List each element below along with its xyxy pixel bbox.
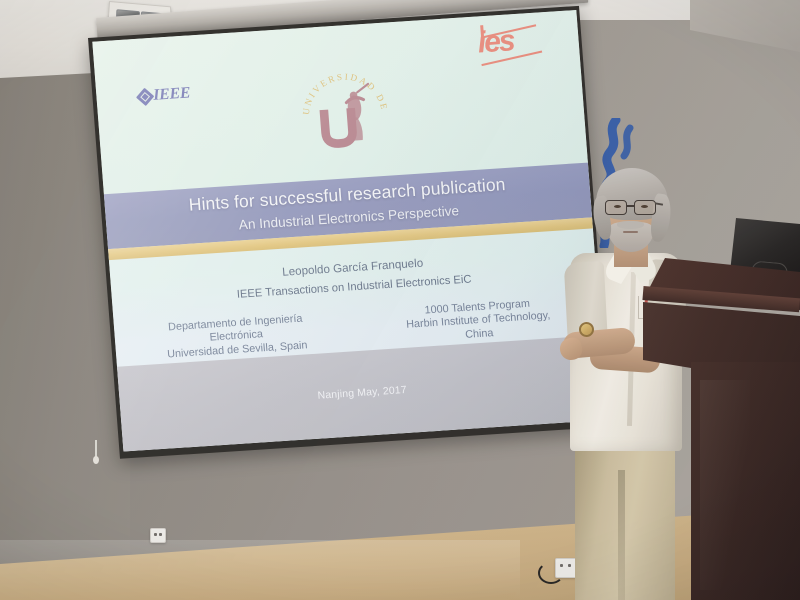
presenter-mustache: [617, 221, 644, 229]
projector-screen: IEEE ies UNIVERSIDAD DE SEVILLA: [88, 6, 611, 459]
universidad-de-sevilla-crest: UNIVERSIDAD DE SEVILLA: [293, 61, 396, 163]
ieee-logo: IEEE: [138, 85, 191, 106]
glasses-bridge: [627, 205, 635, 207]
presentation-photo-scene: IEEE ies UNIVERSIDAD DE SEVILLA: [0, 0, 800, 600]
lectern-column: [691, 362, 800, 600]
crest-ring-text: UNIVERSIDAD DE SEVILLA: [293, 61, 389, 118]
presenter-eye-right: [641, 205, 648, 208]
ies-logo: ies: [477, 23, 553, 62]
power-cord: [538, 562, 564, 584]
wall-outlet-left: [150, 528, 166, 543]
presenter-glasses-icon: [604, 200, 658, 216]
screen-pull-cord[interactable]: [95, 440, 97, 458]
presenter-eye-left: [614, 205, 621, 208]
projected-slide: IEEE ies UNIVERSIDAD DE SEVILLA: [92, 10, 607, 452]
ieee-wordmark: IEEE: [153, 85, 191, 105]
ieee-diamond-icon: [136, 88, 154, 106]
presenter-leg-seam: [618, 470, 625, 600]
presenter-legs: [575, 437, 675, 600]
